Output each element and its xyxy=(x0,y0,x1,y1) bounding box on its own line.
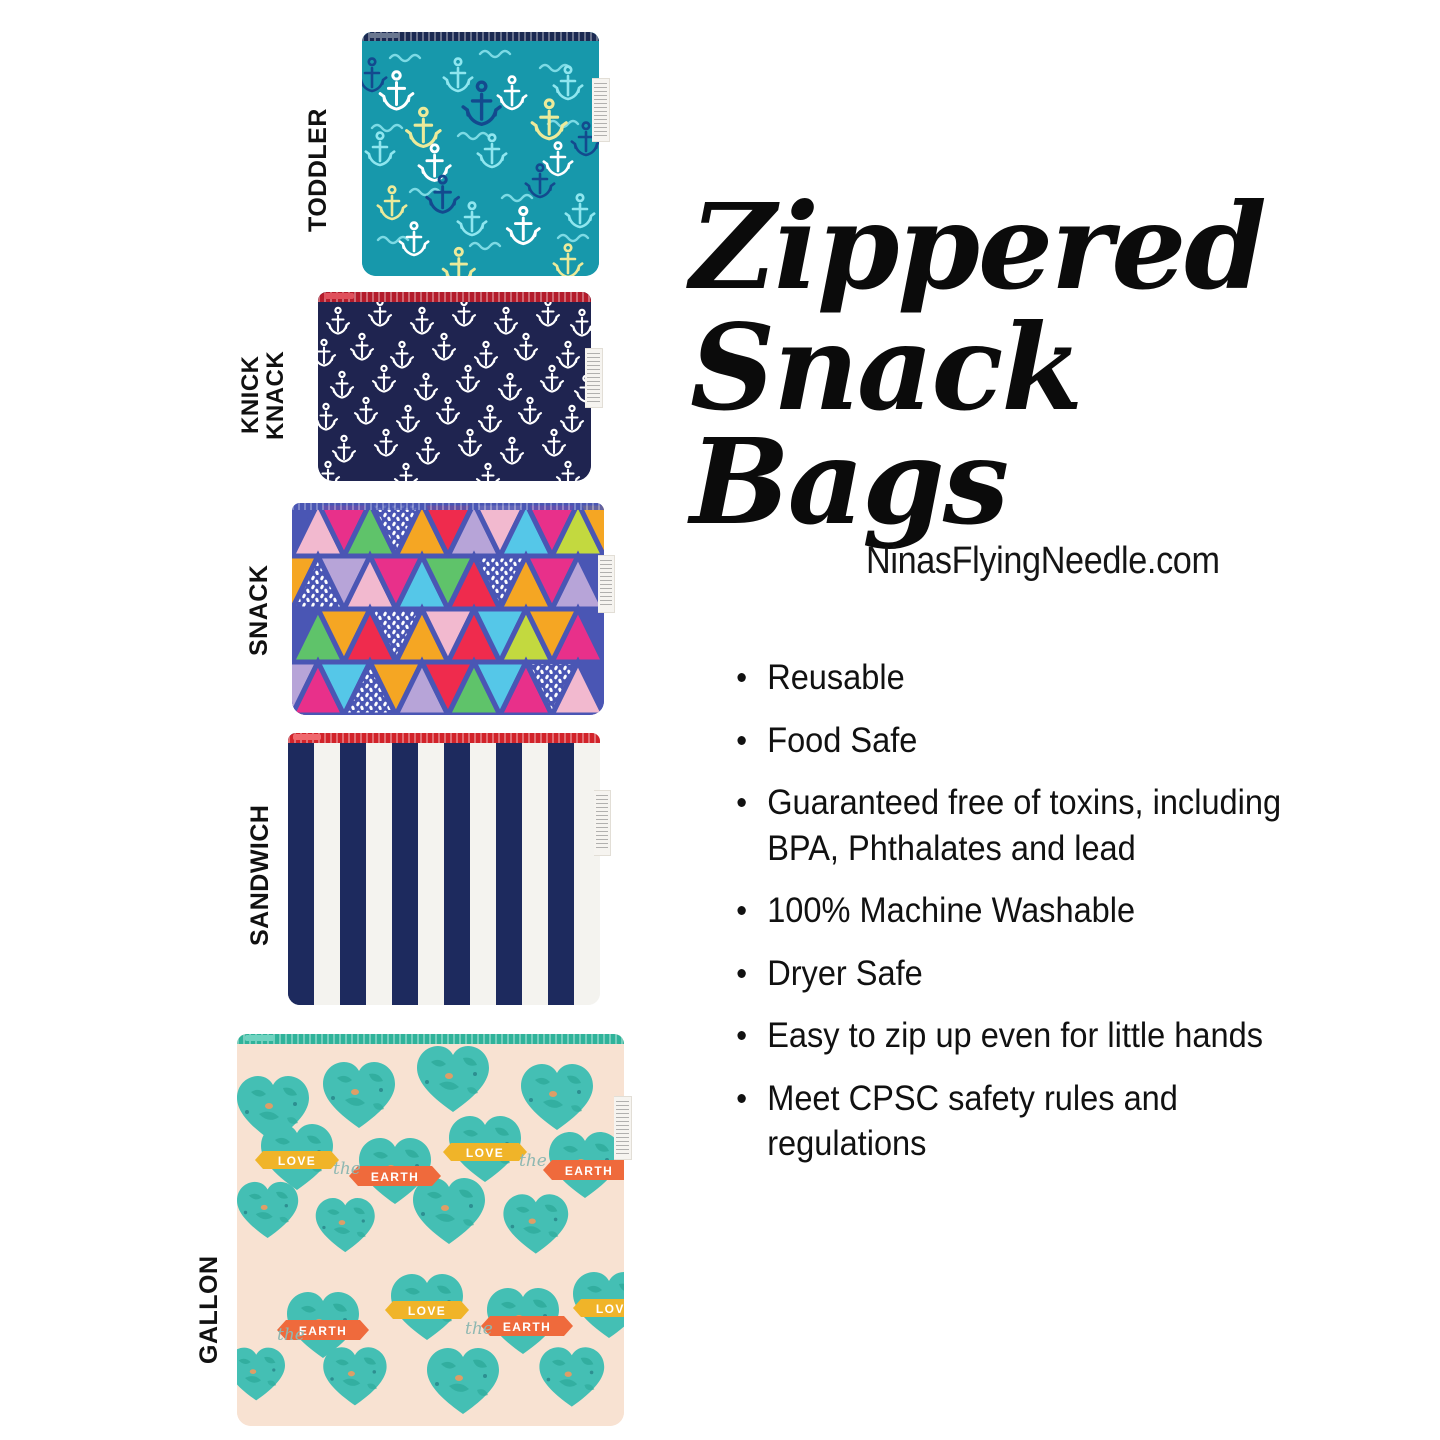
bullet-dot-icon xyxy=(737,1031,745,1040)
feature-text: Reusable xyxy=(767,658,905,697)
bag-sandwich[interactable] xyxy=(288,733,600,1005)
zipper-teeth-icon xyxy=(318,292,591,302)
zipper-teeth-icon xyxy=(288,733,600,743)
product-row-gallon: GALLON xyxy=(0,0,680,400)
zipper-pull-toddler[interactable] xyxy=(369,33,399,38)
list-item: Food Safe xyxy=(730,718,1344,764)
bag-snack-fabric xyxy=(292,503,604,715)
triangle-pattern-icon xyxy=(292,503,604,715)
page-title: Zippered Snack Bags xyxy=(690,190,1420,538)
svg-text:the: the xyxy=(277,1325,305,1345)
care-label-tag-toddler xyxy=(592,78,610,142)
zipper-snack[interactable] xyxy=(292,503,604,510)
care-label-tag-sandwich xyxy=(594,790,611,856)
svg-text:the: the xyxy=(465,1319,493,1339)
feature-list: Reusable Food Safe Guaranteed free of to… xyxy=(730,655,1390,1184)
svg-text:the: the xyxy=(519,1151,547,1171)
feature-text: Dryer Safe xyxy=(767,954,923,993)
list-item: 100% Machine Washable xyxy=(730,888,1344,934)
feature-text: 100% Machine Washable xyxy=(767,891,1135,930)
zipper-pull-gallon[interactable] xyxy=(245,1035,275,1041)
care-label-tag-snack xyxy=(598,555,615,613)
svg-text:the: the xyxy=(333,1159,361,1179)
bullet-dot-icon xyxy=(737,798,745,807)
care-label-tag-gallon xyxy=(614,1096,632,1160)
product-infographic: TODDLER xyxy=(0,0,1440,1440)
zipper-pull-knick-knack[interactable] xyxy=(324,293,354,299)
feature-text: Food Safe xyxy=(767,721,917,760)
zipper-sandwich[interactable] xyxy=(288,733,600,743)
size-label-sandwich: SANDWICH xyxy=(247,790,273,960)
zipper-pull-sandwich[interactable] xyxy=(293,734,321,740)
zipper-teeth-icon xyxy=(237,1034,624,1044)
list-item: Easy to zip up even for little hands xyxy=(730,1013,1344,1059)
bullet-dot-icon xyxy=(737,906,745,915)
bullet-dot-icon xyxy=(737,1094,745,1103)
bag-gallon-fabric: LOVE EARTH xyxy=(237,1034,624,1426)
zipper-knick-knack[interactable] xyxy=(318,292,591,302)
list-item: Guaranteed free of toxins, including BPA… xyxy=(730,780,1344,871)
page-title-line-2: Snack Bags xyxy=(690,311,1420,538)
bullet-dot-icon xyxy=(737,673,745,682)
list-item: Dryer Safe xyxy=(730,951,1344,997)
page-title-line-1: Zippered xyxy=(690,190,1420,303)
zipper-gallon[interactable] xyxy=(237,1034,624,1044)
website-url[interactable]: NinasFlyingNeedle.com xyxy=(866,540,1220,583)
love-the-earth-heart-pattern-icon: LOVE EARTH xyxy=(237,1034,624,1426)
size-label-snack: SNACK xyxy=(246,555,272,665)
bag-sandwich-fabric xyxy=(288,733,600,1005)
feature-text: Guaranteed free of toxins, including BPA… xyxy=(767,783,1281,868)
bag-snack[interactable] xyxy=(292,503,604,715)
bullet-dot-icon xyxy=(737,736,745,745)
bag-gallon[interactable]: LOVE EARTH xyxy=(237,1034,624,1426)
bullet-dot-icon xyxy=(737,969,745,978)
feature-text: Meet CPSC safety rules and regulations xyxy=(767,1079,1178,1164)
feature-text: Easy to zip up even for little hands xyxy=(767,1016,1263,1055)
size-label-gallon: GALLON xyxy=(196,1240,222,1380)
list-item: Reusable xyxy=(730,655,1344,701)
care-label-tag-knick-knack xyxy=(585,348,603,408)
list-item: Meet CPSC safety rules and regulations xyxy=(730,1076,1344,1167)
zipper-teeth-icon xyxy=(292,503,604,510)
